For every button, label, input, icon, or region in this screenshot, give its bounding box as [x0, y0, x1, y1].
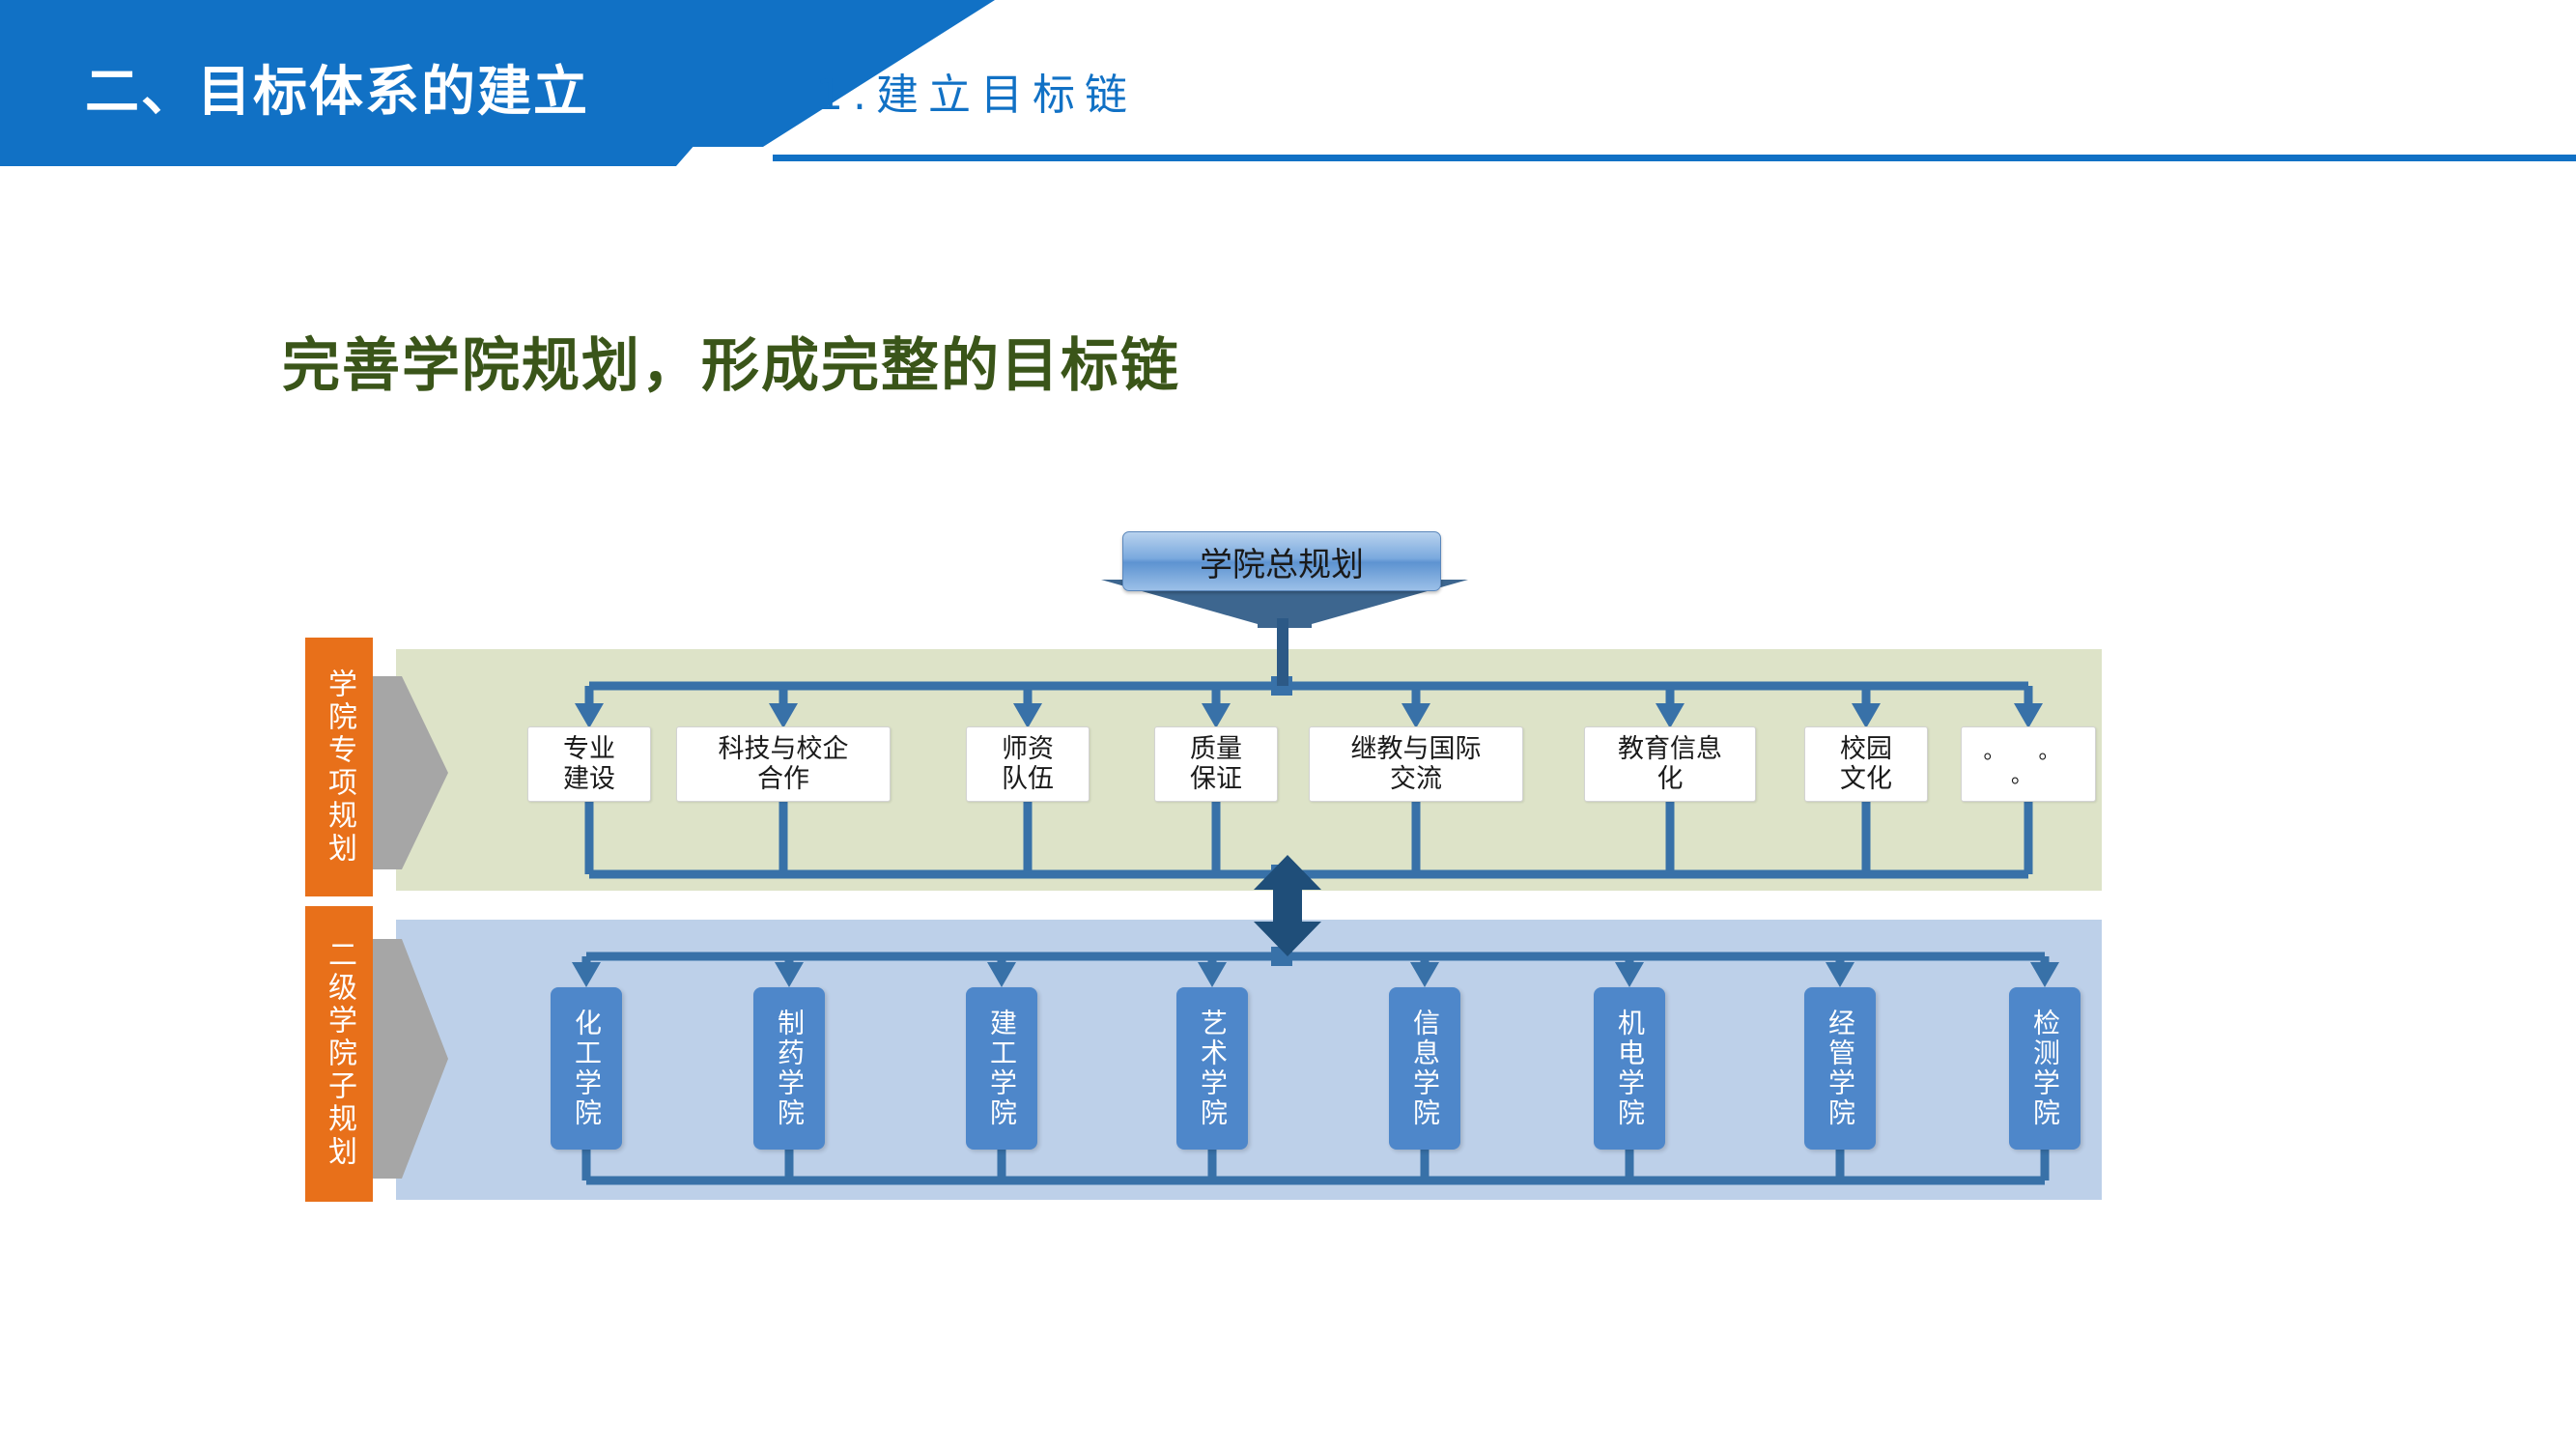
special-plan-label: 继教与国际 交流	[1351, 734, 1482, 794]
tab-sub-college-plans: 二级学院子规划	[305, 906, 373, 1202]
special-plan-box[interactable]: 继教与国际 交流	[1309, 726, 1523, 802]
special-plan-box[interactable]: 师资 队伍	[966, 726, 1090, 802]
tab-special-plans: 学院专项规划	[305, 638, 373, 896]
root-stem	[1277, 618, 1288, 686]
special-plan-label: 校园 文化	[1840, 734, 1892, 794]
college-label: 机电学院	[1610, 1009, 1649, 1128]
page-title: 二、目标体系的建立	[85, 48, 589, 127]
special-plan-label: 师资 队伍	[1002, 734, 1054, 794]
special-plan-box[interactable]: 专业 建设	[527, 726, 651, 802]
college-label: 经管学院	[1821, 1009, 1859, 1128]
special-plan-box[interactable]: 教育信息 化	[1584, 726, 1756, 802]
special-plan-box[interactable]: 。 。 。	[1961, 726, 2096, 802]
special-plan-label: 专业 建设	[563, 734, 615, 794]
college-box[interactable]: 机电学院	[1594, 987, 1665, 1150]
college-box[interactable]: 经管学院	[1804, 987, 1876, 1150]
node-overall-plan-label: 学院总规划	[1200, 538, 1364, 585]
special-plan-label: 教育信息 化	[1618, 734, 1722, 794]
special-plan-box[interactable]: 科技与校企 合作	[676, 726, 891, 802]
college-box[interactable]: 化工学院	[551, 987, 622, 1150]
special-plan-box[interactable]: 质量 保证	[1154, 726, 1278, 802]
college-label: 检测学院	[2025, 1009, 2064, 1128]
college-box[interactable]: 制药学院	[753, 987, 825, 1150]
bidirectional-arrow-icon	[1250, 855, 1325, 956]
tab-special-plans-label: 学院专项规划	[318, 668, 360, 866]
college-box[interactable]: 艺术学院	[1176, 987, 1248, 1150]
special-plan-label: 科技与校企 合作	[719, 734, 849, 794]
college-label: 建工学院	[982, 1009, 1021, 1128]
slide: 二、目标体系的建立 1.建立目标链 完善学院规划，形成完整的目标链 学院专项规划…	[0, 0, 2576, 1450]
college-label: 制药学院	[770, 1009, 808, 1128]
special-plan-label: 质量 保证	[1190, 734, 1242, 794]
special-plan-label: 。 。 。	[1967, 740, 2089, 789]
tab-sub-college-plans-label: 二级学院子规划	[318, 939, 360, 1169]
node-overall-plan[interactable]: 学院总规划	[1122, 531, 1441, 591]
college-label: 信息学院	[1405, 1009, 1444, 1128]
college-label: 化工学院	[567, 1009, 606, 1128]
college-box[interactable]: 检测学院	[2009, 987, 2081, 1150]
goal-chain-diagram: 学院专项规划 二级学院子规划 学院总规划 专业 建设科技与校企 合作师资 队伍质…	[0, 0, 2576, 1450]
college-box[interactable]: 信息学院	[1389, 987, 1460, 1150]
college-label: 艺术学院	[1193, 1009, 1231, 1128]
college-box[interactable]: 建工学院	[966, 987, 1037, 1150]
special-plan-box[interactable]: 校园 文化	[1804, 726, 1928, 802]
